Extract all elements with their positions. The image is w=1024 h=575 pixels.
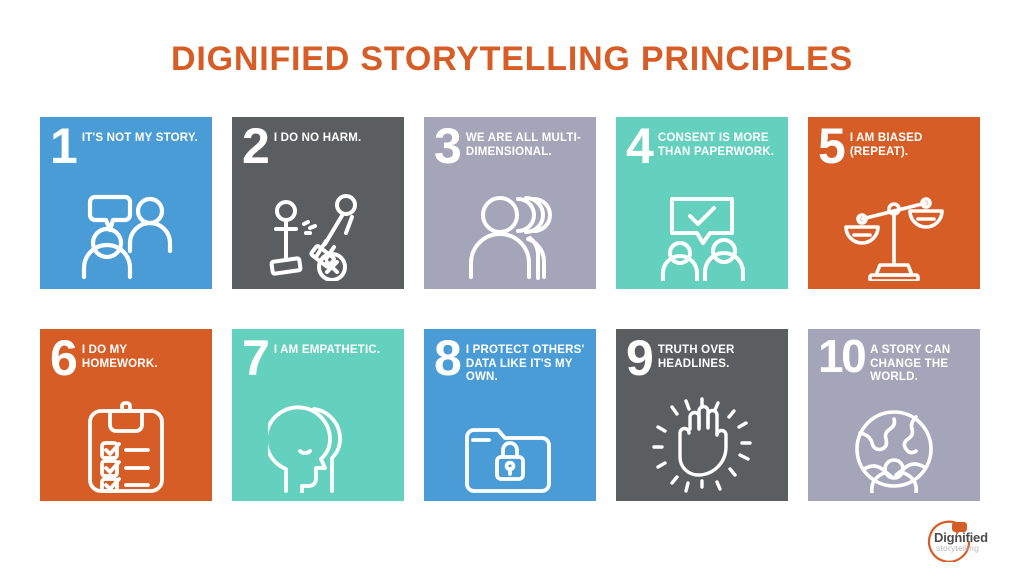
checkmark-speech-bubble-people-icon <box>616 186 788 281</box>
principle-card-3[interactable]: 3 WE ARE ALL MULTI-DIMENSIONAL. <box>424 117 596 289</box>
folder-lock-icon <box>424 398 596 493</box>
card-number: 6 <box>50 337 76 379</box>
logo-tagline: storytelling <box>936 543 979 553</box>
card-number: 5 <box>818 125 844 167</box>
card-label: WE ARE ALL MULTI-DIMENSIONAL. <box>466 127 588 159</box>
two-people-speech-bubble-icon <box>40 186 212 281</box>
card-header: 2 I DO NO HARM. <box>242 127 396 167</box>
principle-card-6[interactable]: 6 I DO MY HOMEWORK. <box>40 329 212 501</box>
card-label: I DO NO HARM. <box>274 127 362 146</box>
card-number: 8 <box>434 337 460 379</box>
infographic-poster: DIGNIFIED STORYTELLING PRINCIPLES 1 IT'S… <box>0 0 1024 575</box>
principle-card-10[interactable]: 10 A STORY CAN CHANGE THE WORLD. <box>808 329 980 501</box>
card-header: 7 I AM EMPATHETIC. <box>242 339 396 379</box>
two-face-profiles-icon <box>232 398 404 493</box>
card-header: 5 I AM BIASED (REPEAT). <box>818 127 972 167</box>
principle-card-2[interactable]: 2 I DO NO HARM. <box>232 117 404 289</box>
layered-people-icon <box>424 186 596 281</box>
card-label: CONSENT IS MORE THAN PAPERWORK. <box>658 127 780 159</box>
card-number: 2 <box>242 125 268 167</box>
card-label: I AM BIASED (REPEAT). <box>850 127 972 159</box>
card-header: 10 A STORY CAN CHANGE THE WORLD. <box>818 339 972 385</box>
card-header: 1 IT'S NOT MY STORY. <box>50 127 204 167</box>
principles-grid: 1 IT'S NOT MY STORY. 2 I DO NO HARM. <box>40 117 990 501</box>
card-label: TRUTH OVER HEADLINES. <box>658 339 780 371</box>
falling-figure-no-harm-icon <box>232 186 404 281</box>
card-number: 7 <box>242 337 268 379</box>
card-number: 9 <box>626 337 652 379</box>
principle-card-5[interactable]: 5 I AM BIASED (REPEAT). <box>808 117 980 289</box>
dignified-storytelling-logo[interactable]: Dignified storytelling <box>912 512 1012 564</box>
principle-card-4[interactable]: 4 CONSENT IS MORE THAN PAPERWORK. <box>616 117 788 289</box>
card-header: 4 CONSENT IS MORE THAN PAPERWORK. <box>626 127 780 167</box>
card-number: 4 <box>626 125 652 167</box>
card-label: I PROTECT OTHERS' DATA LIKE IT'S MY OWN. <box>466 339 588 385</box>
card-header: 9 TRUTH OVER HEADLINES. <box>626 339 780 379</box>
card-header: 8 I PROTECT OTHERS' DATA LIKE IT'S MY OW… <box>434 339 588 385</box>
clipboard-checklist-icon <box>40 398 212 493</box>
card-number: 10 <box>818 337 864 376</box>
card-number: 1 <box>50 125 76 167</box>
globe-in-hands-icon <box>808 398 980 493</box>
balance-scales-icon <box>808 186 980 281</box>
card-header: 6 I DO MY HOMEWORK. <box>50 339 204 379</box>
raised-hand-rays-icon <box>616 398 788 493</box>
principle-card-9[interactable]: 9 TRUTH OVER HEADLINES. <box>616 329 788 501</box>
principle-card-1[interactable]: 1 IT'S NOT MY STORY. <box>40 117 212 289</box>
card-label: I DO MY HOMEWORK. <box>82 339 204 371</box>
card-label: I AM EMPATHETIC. <box>274 339 380 358</box>
page-title: DIGNIFIED STORYTELLING PRINCIPLES <box>0 40 1024 79</box>
card-label: IT'S NOT MY STORY. <box>82 127 198 146</box>
card-number: 3 <box>434 125 460 167</box>
principle-card-8[interactable]: 8 I PROTECT OTHERS' DATA LIKE IT'S MY OW… <box>424 329 596 501</box>
card-label: A STORY CAN CHANGE THE WORLD. <box>870 339 972 385</box>
principle-card-7[interactable]: 7 I AM EMPATHETIC. <box>232 329 404 501</box>
card-header: 3 WE ARE ALL MULTI-DIMENSIONAL. <box>434 127 588 167</box>
